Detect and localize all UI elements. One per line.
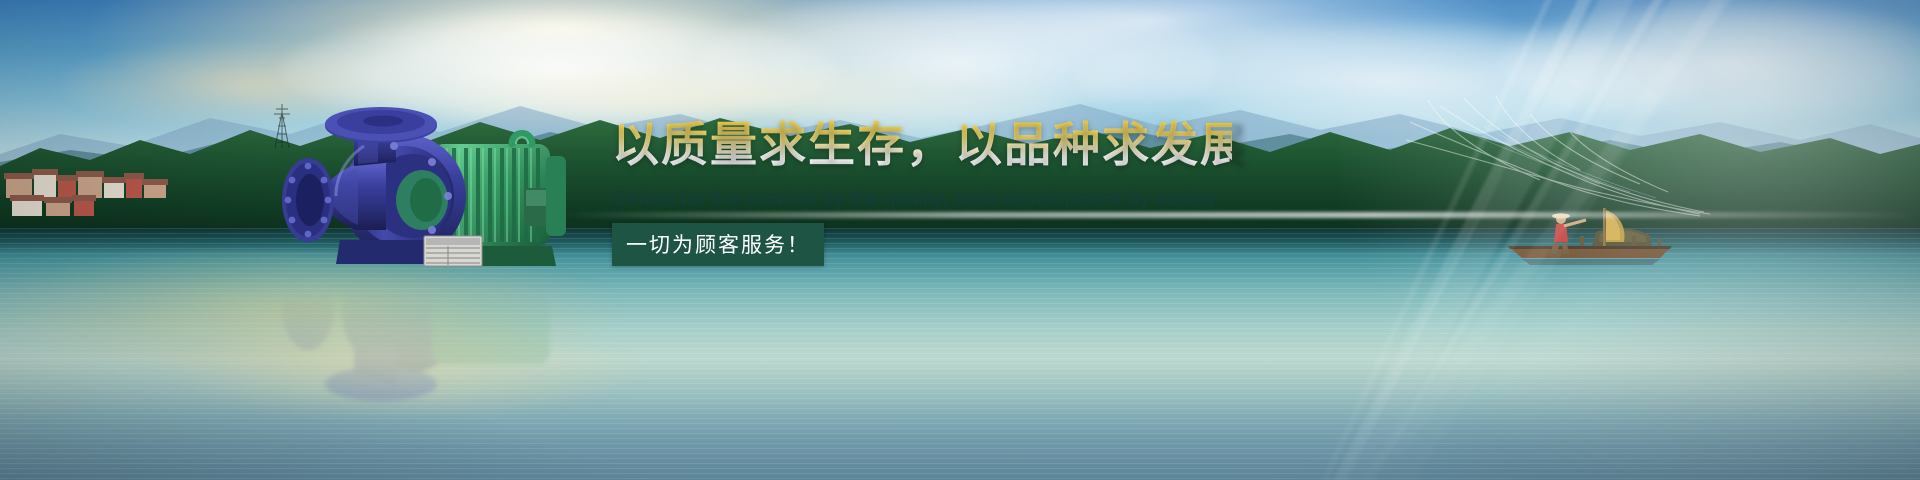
service-slogan-badge: 一切为顾客服务！ (612, 223, 824, 266)
slogan-block: 以质量求生存，以品种求发展 Strives for the survival b… (612, 118, 1232, 266)
fisherman-boat (1500, 196, 1680, 266)
product-pump-image (236, 100, 576, 290)
pump-nameplate (424, 236, 482, 266)
headline-chinese: 以质量求生存，以品种求发展 (612, 118, 1232, 173)
hero-banner: 以质量求生存，以品种求发展 Strives for the survival b… (0, 0, 1920, 480)
pump-reflection (236, 288, 576, 408)
lakeside-village (0, 130, 250, 240)
subline-english: Strives for the survival by the quality,… (612, 187, 1232, 211)
pump-casing (282, 107, 466, 258)
